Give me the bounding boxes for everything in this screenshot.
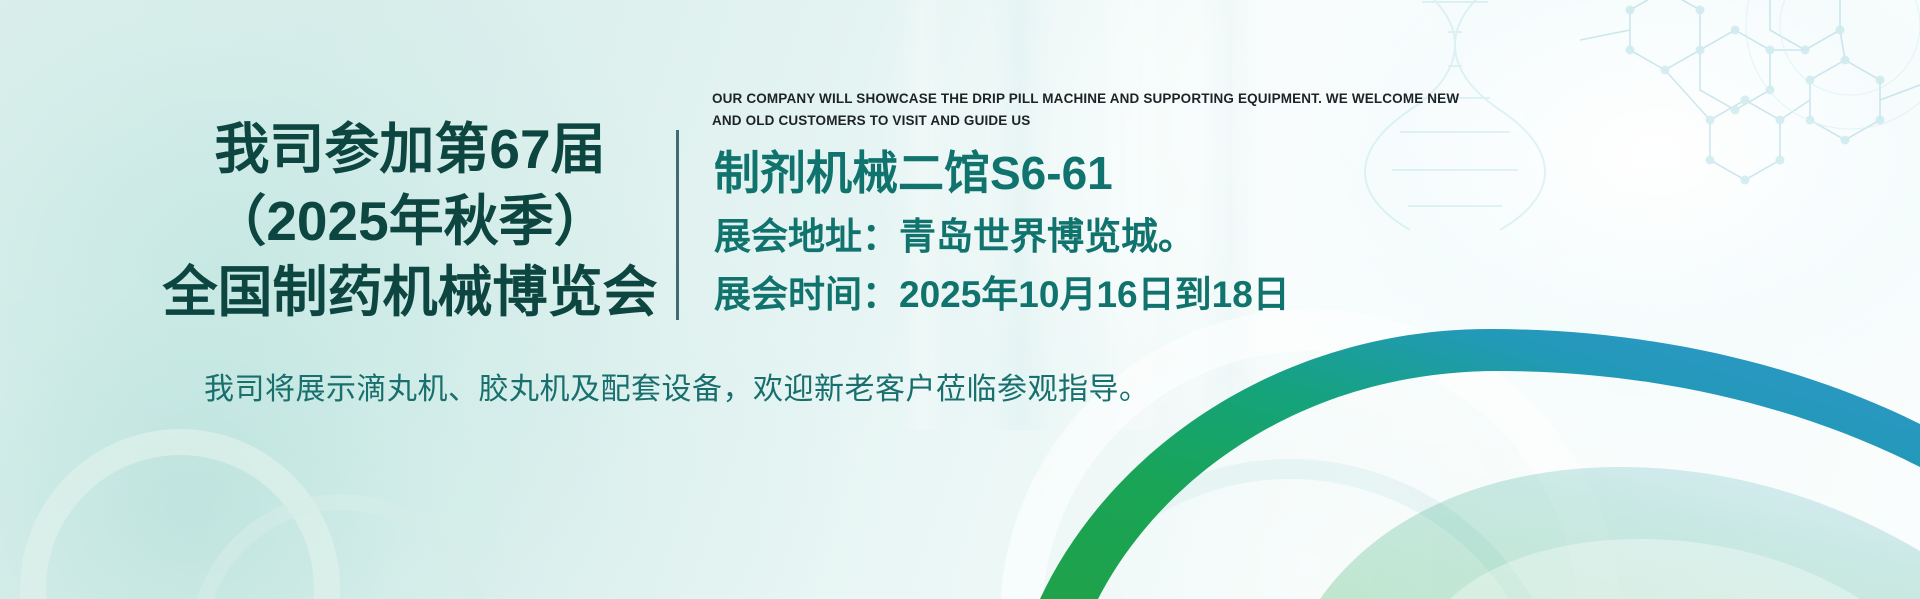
- headline-line-1: 我司参加第67届: [150, 114, 670, 186]
- vertical-divider: [676, 130, 679, 320]
- bottom-caption: 我司将展示滴丸机、胶丸机及配套设备，欢迎新老客户莅临参观指导。: [204, 364, 1150, 408]
- exhibition-address: 展会地址：青岛世界博览城。: [714, 208, 1290, 266]
- banner-content: 我司参加第67届 （2025年秋季） 全国制药机械博览会 OUR COMPANY…: [0, 0, 1920, 599]
- headline-line-2: （2025年秋季）: [150, 186, 670, 258]
- exhibition-date: 展会时间：2025年10月16日到18日: [714, 266, 1290, 324]
- headline-line-3: 全国制药机械博览会: [150, 257, 670, 329]
- exhibition-info-block: 制剂机械二馆S6-61 展会地址：青岛世界博览城。 展会时间：2025年10月1…: [714, 148, 1290, 324]
- exhibition-banner: 我司参加第67届 （2025年秋季） 全国制药机械博览会 OUR COMPANY…: [0, 0, 1920, 599]
- headline-title: 我司参加第67届 （2025年秋季） 全国制药机械博览会: [150, 114, 670, 329]
- booth-number: 制剂机械二馆S6-61: [714, 148, 1290, 200]
- english-subtitle: OUR COMPANY WILL SHOWCASE THE DRIP PILL …: [712, 88, 1467, 132]
